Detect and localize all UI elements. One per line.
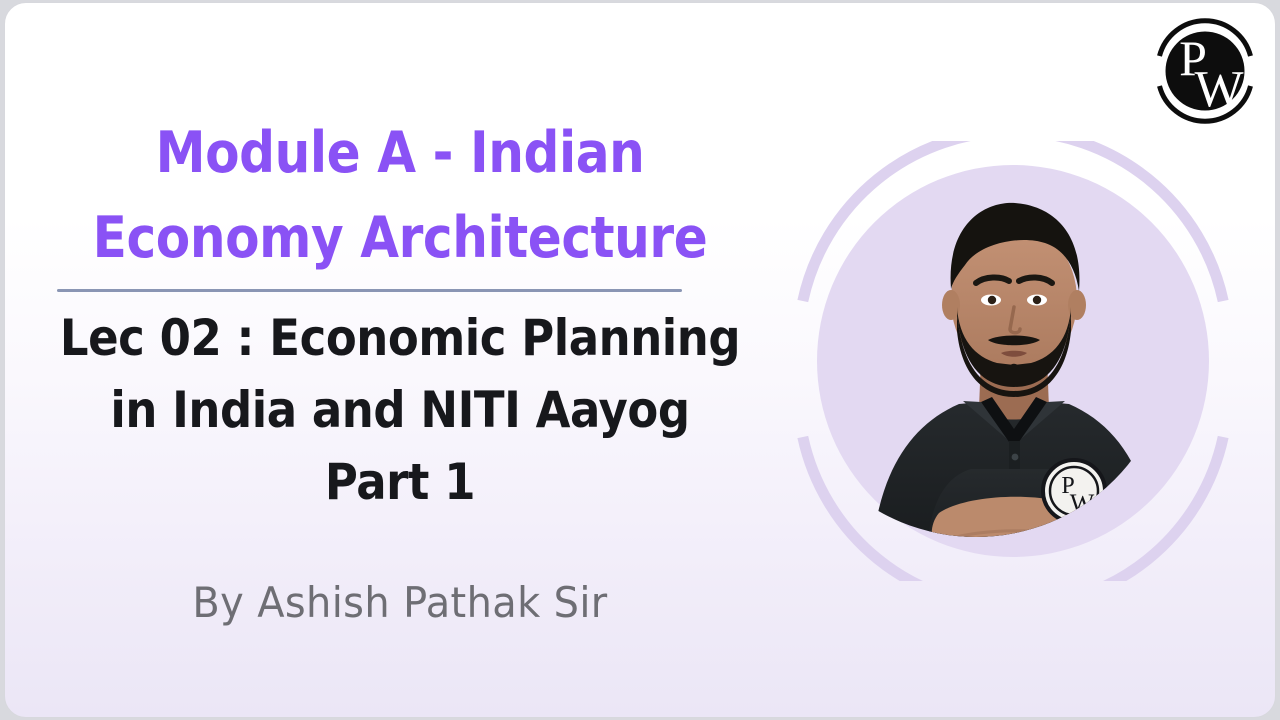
slide-text-block: Module A - Indian Economy Architecture L… — [5, 111, 795, 518]
pw-logo: P W — [1143, 9, 1267, 133]
presenter-credit: By Ashish Pathak Sir — [25, 578, 776, 628]
svg-text:W: W — [1070, 489, 1095, 518]
presenter-portrait: P W — [793, 141, 1233, 591]
module-title: Module A - Indian Economy Architecture — [52, 111, 747, 281]
slide-card: P W Module A - Indian Economy Architectu… — [4, 2, 1276, 718]
portrait-photo: P W — [831, 161, 1197, 593]
lecture-title: Lec 02 : Economic Planning in India and … — [45, 302, 756, 518]
svg-text:W: W — [1194, 61, 1243, 118]
title-divider — [57, 289, 682, 292]
